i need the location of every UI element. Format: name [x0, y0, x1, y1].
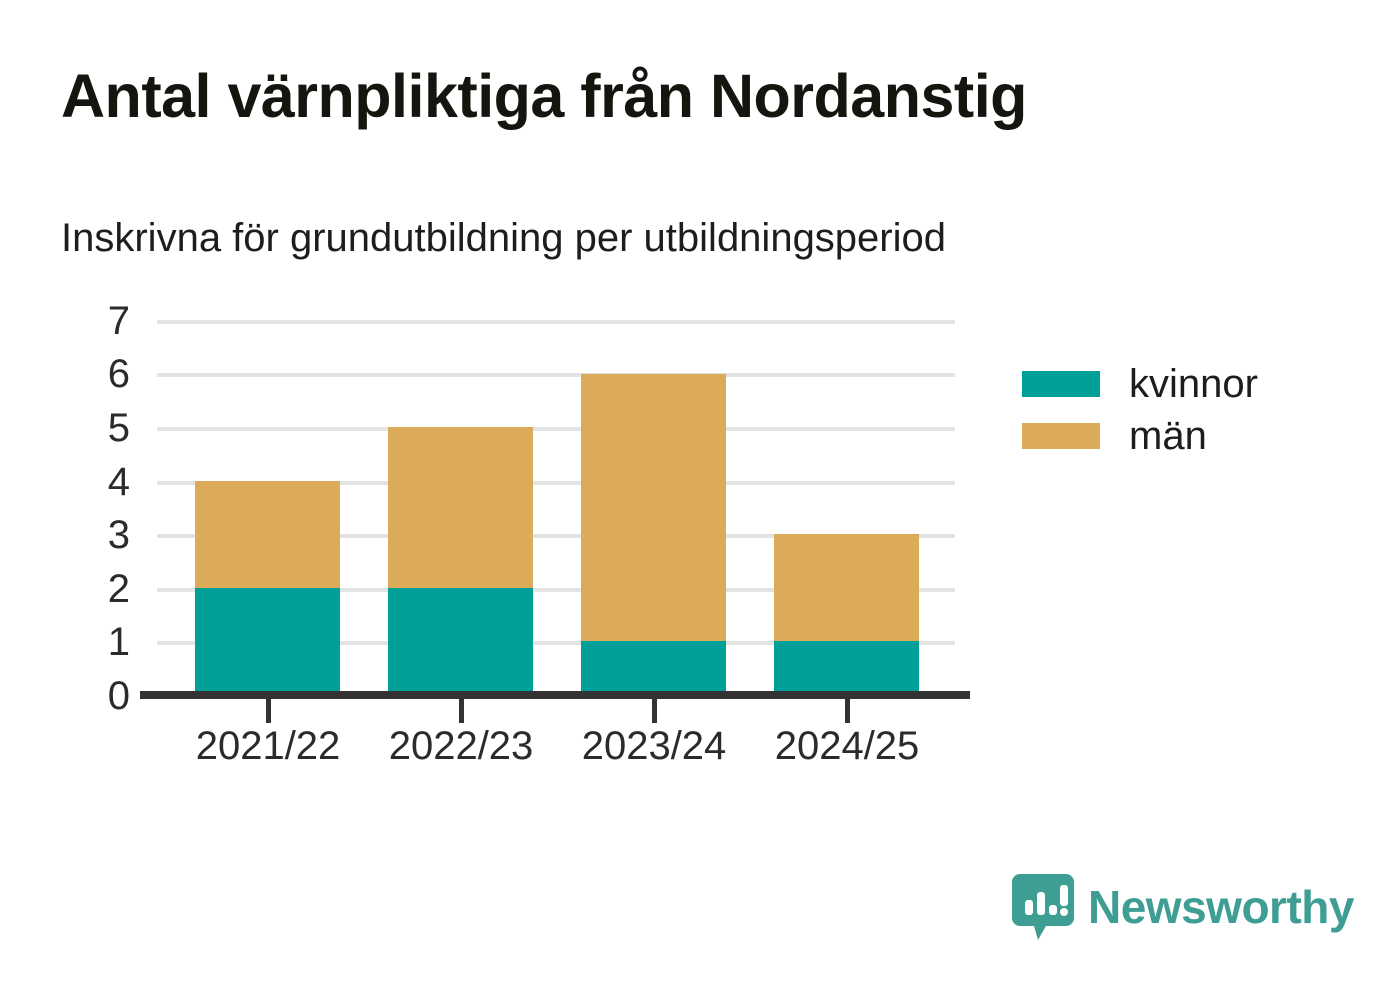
speech-bubble-bar-chart-icon: [1012, 874, 1074, 940]
bar-segment-kvinnor-2022-23[interactable]: [388, 588, 533, 695]
x-axis-line: [140, 691, 970, 699]
bar-2023-24[interactable]: [581, 374, 726, 695]
bar-segment-kvinnor-2024-25[interactable]: [774, 641, 919, 695]
y-axis-label-4: 4: [20, 462, 130, 502]
bar-segment-man-2021-22[interactable]: [195, 481, 340, 588]
y-axis-label-7: 7: [20, 301, 130, 341]
legend-label-man: män: [1129, 416, 1207, 456]
gridline-5: [157, 427, 955, 431]
legend-swatch-man: [1022, 423, 1100, 449]
bar-segment-man-2022-23[interactable]: [388, 427, 533, 588]
y-axis-label-5: 5: [20, 408, 130, 448]
newsworthy-wordmark: Newsworthy: [1088, 884, 1354, 930]
legend-item-man[interactable]: män: [1022, 410, 1258, 462]
x-axis-label-2024-25: 2024/25: [717, 722, 977, 770]
x-axis-tick-2021-22: [266, 699, 271, 723]
x-axis-tick-2023-24: [652, 699, 657, 723]
bar-segment-kvinnor-2023-24[interactable]: [581, 641, 726, 695]
chart-subtitle: Inskrivna för grundutbildning per utbild…: [61, 215, 946, 261]
bar-segment-man-2024-25[interactable]: [774, 534, 919, 641]
y-axis-label-2: 2: [20, 569, 130, 609]
x-axis-tick-2022-23: [459, 699, 464, 723]
gridline-6: [157, 373, 955, 377]
newsworthy-logo[interactable]: Newsworthy: [1012, 874, 1354, 940]
chart-plot-area: [157, 320, 955, 695]
bar-segment-man-2023-24[interactable]: [581, 374, 726, 642]
bar-2024-25[interactable]: [774, 534, 919, 695]
chart-legend: kvinnor män: [1022, 358, 1258, 462]
y-axis-label-0: 0: [20, 676, 130, 716]
bar-2021-22[interactable]: [195, 481, 340, 695]
y-axis-label-6: 6: [20, 354, 130, 394]
legend-swatch-kvinnor: [1022, 371, 1100, 397]
page-title: Antal värnpliktiga från Nordanstig: [61, 63, 1027, 130]
bar-segment-kvinnor-2021-22[interactable]: [195, 588, 340, 695]
bar-2022-23[interactable]: [388, 427, 533, 695]
y-axis-label-3: 3: [20, 515, 130, 555]
y-axis-label-1: 1: [20, 622, 130, 662]
legend-label-kvinnor: kvinnor: [1129, 364, 1258, 404]
legend-item-kvinnor[interactable]: kvinnor: [1022, 358, 1258, 410]
gridline-7: [157, 320, 955, 324]
x-axis-tick-2024-25: [845, 699, 850, 723]
